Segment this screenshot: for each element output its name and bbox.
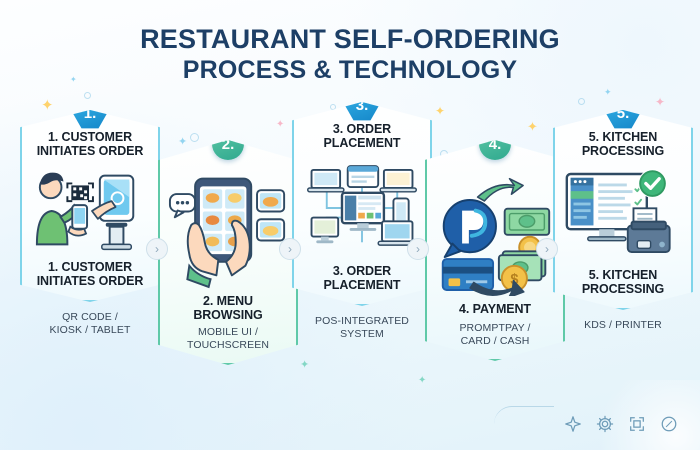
step-5-title-top: 5. KITCHEN PROCESSING: [563, 130, 683, 158]
step-2-title-bottom: 2. MENU BROWSING: [168, 294, 288, 322]
step-3-title-bottom: 3. ORDER PLACEMENT: [302, 264, 422, 292]
step-3-subtitle: POS-INTEGRATED SYSTEM: [292, 315, 432, 340]
step-5-subtitle: KDS / PRINTER: [553, 319, 693, 332]
step-4-subtitle: PROMPTPAY / CARD / CASH: [435, 322, 555, 347]
process-steps: 1. 1. CUSTOMER INITIATES ORDER: [0, 92, 700, 402]
bottom-toolbar: [530, 406, 692, 442]
step-3-body[interactable]: 3. 3. ORDER PLACEMENT: [292, 102, 432, 306]
kds-monitor-receipt-printer-icon: [563, 164, 683, 264]
step-1-title-top: 1. CUSTOMER INITIATES ORDER: [30, 130, 150, 158]
step-2-body[interactable]: 2.: [158, 140, 298, 365]
step-card-5[interactable]: 5. 5. KITCHEN PROCESSING: [553, 110, 693, 332]
gear-icon[interactable]: [596, 415, 614, 433]
step-5-title-bottom: 5. KITCHEN PROCESSING: [563, 268, 683, 296]
connected-devices-pos-network-icon: [302, 156, 422, 260]
step-1-badge: 1.: [73, 98, 107, 129]
step-5-body[interactable]: 5. 5. KITCHEN PROCESSING: [553, 110, 693, 310]
sparkle-icon[interactable]: [564, 415, 582, 433]
crop-frame-icon[interactable]: [628, 415, 646, 433]
step-1-body[interactable]: 1. 1. CUSTOMER INITIATES ORDER: [20, 110, 160, 302]
hands-tablet-food-menu-icon: [168, 162, 288, 290]
step-card-1[interactable]: 1. 1. CUSTOMER INITIATES ORDER: [20, 110, 160, 336]
customer-phone-kiosk-qr-icon: [30, 164, 150, 256]
connector-chevron-2[interactable]: ›: [279, 238, 301, 260]
step-card-3[interactable]: 3. 3. ORDER PLACEMENT: [292, 102, 432, 340]
connector-chevron-1[interactable]: ›: [146, 238, 168, 260]
step-1-title-bottom: 1. CUSTOMER INITIATES ORDER: [30, 260, 150, 288]
step-4-badge: 4.: [479, 128, 511, 160]
compass-icon[interactable]: [660, 415, 678, 433]
promptpay-cash-card-coins-icon: $: [435, 162, 555, 298]
connector-chevron-4[interactable]: ›: [536, 238, 558, 260]
title-line-1: RESTAURANT SELF-ORDERING: [0, 24, 700, 54]
page-title: RESTAURANT SELF-ORDERING PROCESS & TECHN…: [0, 24, 700, 85]
step-3-title-top: 3. ORDER PLACEMENT: [302, 122, 422, 150]
step-2-badge: 2.: [212, 128, 244, 160]
step-2-subtitle: MOBILE UI / TOUCHSCREEN: [168, 326, 288, 351]
step-5-badge: 5.: [606, 98, 640, 129]
step-4-title-bottom: 4. PAYMENT: [435, 302, 555, 316]
title-line-2: PROCESS & TECHNOLOGY: [0, 56, 700, 85]
step-card-2[interactable]: 2.: [158, 140, 298, 365]
step-3-badge: 3.: [345, 90, 379, 121]
step-1-subtitle: QR CODE / KIOSK / TABLET: [20, 311, 160, 336]
connector-chevron-3[interactable]: ›: [407, 238, 429, 260]
